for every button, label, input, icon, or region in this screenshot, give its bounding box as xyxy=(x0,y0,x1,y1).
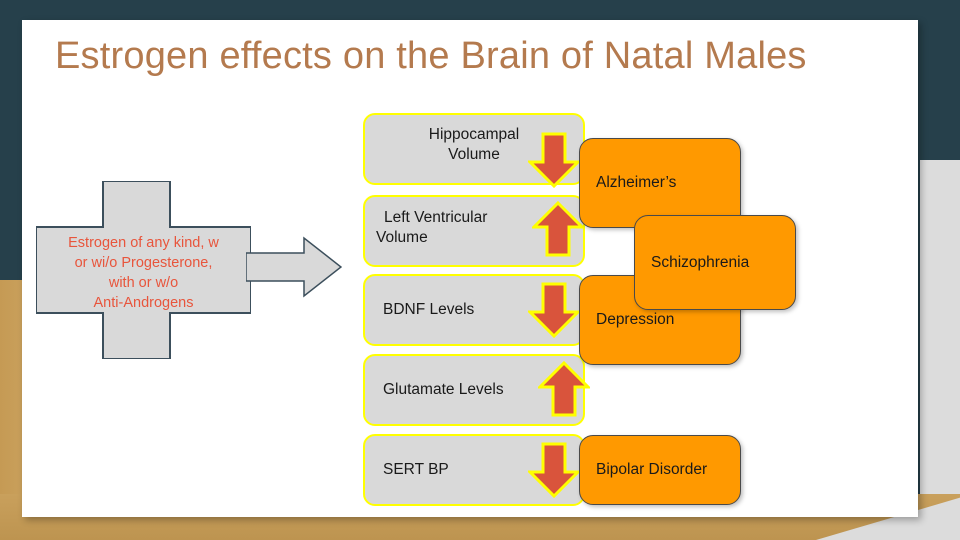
arrow-up-icon xyxy=(532,201,584,257)
estrogen-line-3: with or w/o xyxy=(32,273,255,293)
arrow-down-icon xyxy=(528,442,580,498)
outcome-label-alzheimers: Alzheimer’s xyxy=(580,174,676,192)
outcome-box-bipolar-disorder[interactable]: Bipolar Disorder xyxy=(579,435,741,505)
estrogen-input-text: Estrogen of any kind, w or wi/o Progeste… xyxy=(32,233,255,313)
arrow-down-icon xyxy=(528,282,580,338)
outcome-label-schizophrenia: Schizophrenia xyxy=(635,254,749,272)
arrow-up-icon xyxy=(538,361,590,417)
outcome-label-bipolar-disorder: Bipolar Disorder xyxy=(580,461,707,479)
flow-arrow-right-icon xyxy=(246,236,342,298)
outcome-label-depression: Depression xyxy=(580,311,674,329)
background-gray-right-band xyxy=(920,160,960,540)
estrogen-line-1: Estrogen of any kind, w xyxy=(32,233,255,253)
estrogen-line-4: Anti-Androgens xyxy=(32,293,255,313)
page-title: Estrogen effects on the Brain of Natal M… xyxy=(55,33,875,79)
estrogen-input-callout[interactable]: Estrogen of any kind, w or wi/o Progeste… xyxy=(36,181,251,359)
arrow-down-icon xyxy=(528,132,580,188)
outcome-box-schizophrenia[interactable]: Schizophrenia xyxy=(634,215,796,310)
slide-canvas: Estrogen effects on the Brain of Natal M… xyxy=(0,0,960,540)
estrogen-line-2: or wi/o Progesterone, xyxy=(32,253,255,273)
